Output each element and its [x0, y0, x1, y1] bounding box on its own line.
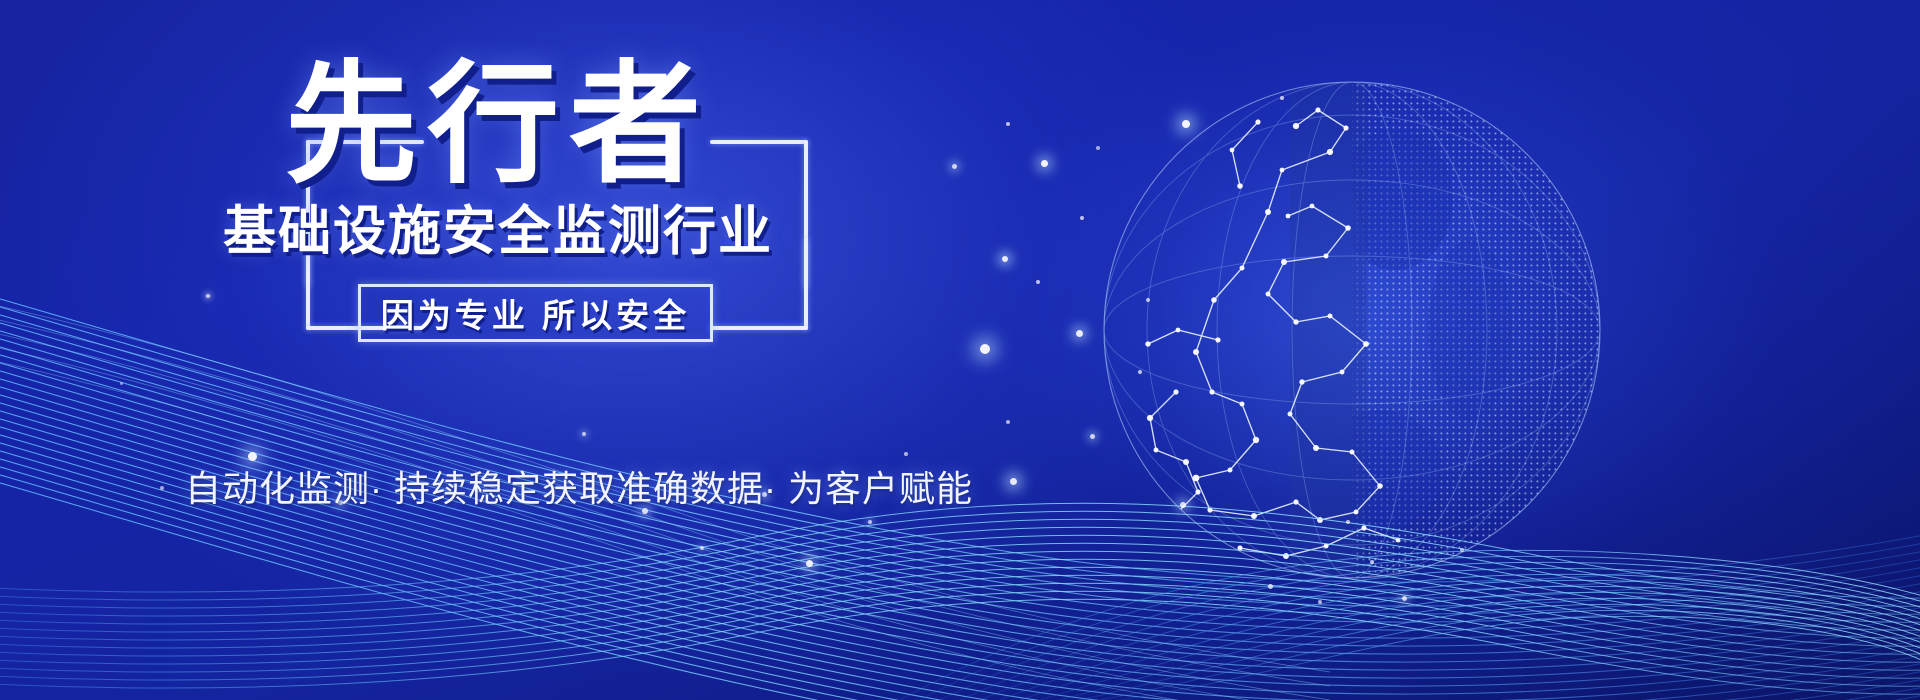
bracket-bottom-right-icon	[710, 326, 808, 330]
main-title: 先行者	[178, 58, 818, 193]
sub-title: 基础设施安全监测行业	[178, 202, 818, 263]
headline-block: 先行者 基础设施安全监测行业 因为专业 所以安全	[178, 52, 818, 452]
slogan-text: 因为专业 所以安全	[381, 289, 690, 337]
tagline: 自动化监测· 持续稳定获取准确数据· 为客户赋能	[185, 460, 973, 512]
slogan-box: 因为专业 所以安全	[358, 284, 713, 342]
hero-banner: 先行者 基础设施安全监测行业 因为专业 所以安全 自动化监测· 持续稳定获取准确…	[0, 0, 1920, 700]
